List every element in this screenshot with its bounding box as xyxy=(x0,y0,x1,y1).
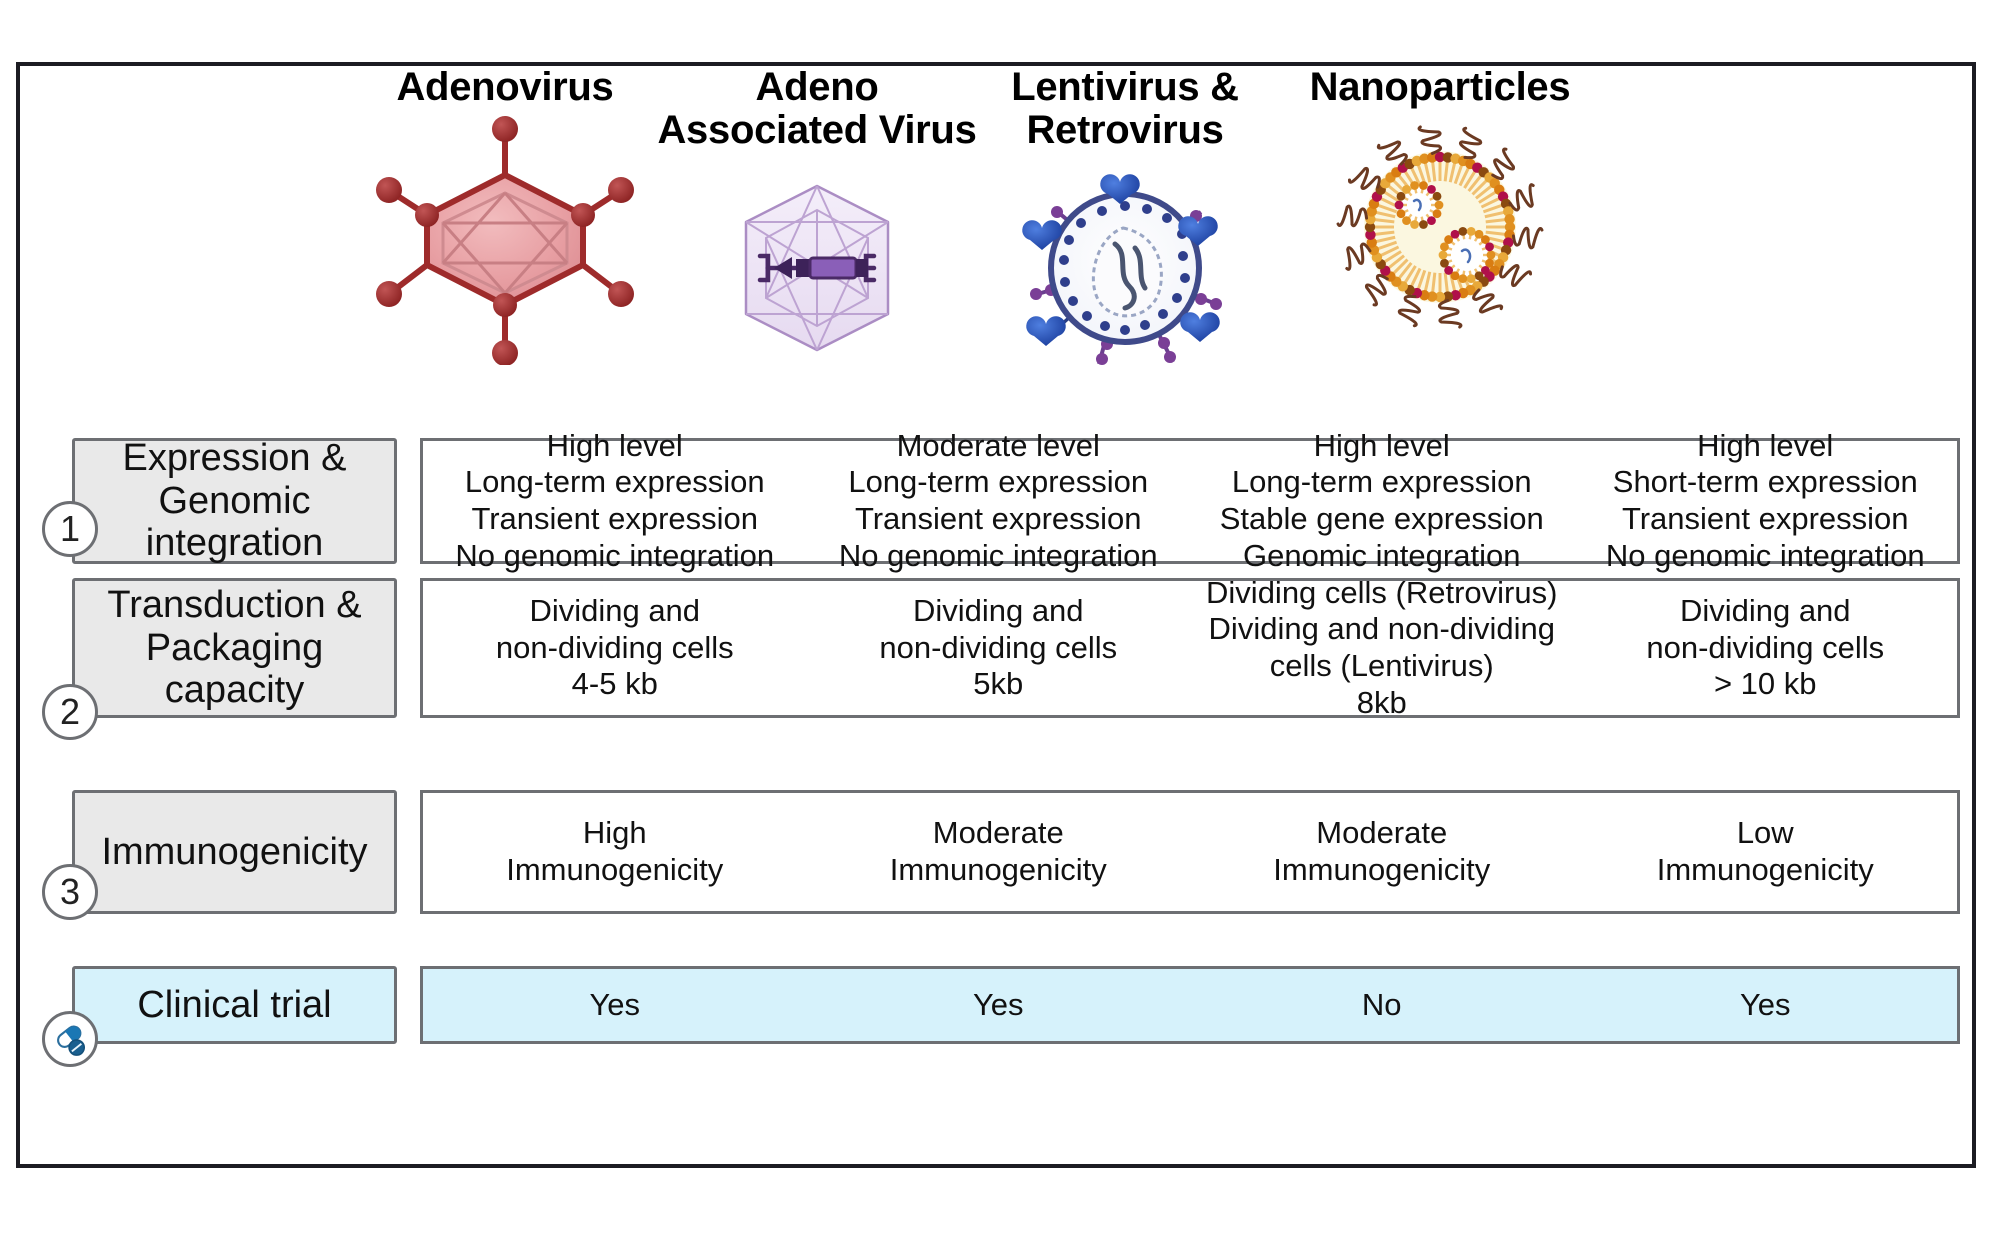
row-data-immunogenicity: High Immunogenicity Moderate Immunogenic… xyxy=(420,790,1960,914)
cell-clinical-adenovirus: Yes xyxy=(423,969,807,1041)
row-label-text-2: Transduction & Packaging capacity xyxy=(75,584,394,712)
row-label-immunogenicity: Immunogenicity xyxy=(72,790,397,914)
cell-clinical-aav: Yes xyxy=(807,969,1191,1041)
nanoparticle-icon xyxy=(1315,115,1565,340)
column-header-aav: Adeno Associated Virus xyxy=(652,66,982,368)
column-headers: Adenovirus xyxy=(20,66,1972,486)
row-label-text-1: Expression & Genomic integration xyxy=(75,437,394,565)
cell-immunogenicity-nanoparticles: Low Immunogenicity xyxy=(1574,793,1958,911)
adeno-associated-virus-icon xyxy=(692,168,942,368)
cell-immunogenicity-aav: Moderate Immunogenicity xyxy=(807,793,1191,911)
row-marker-2: 2 xyxy=(42,684,98,740)
cell-expression-lentivirus: High level Long-term expression Stable g… xyxy=(1190,441,1574,561)
cell-clinical-nanoparticles: Yes xyxy=(1574,969,1958,1041)
cell-transduction-aav: Dividing and non-dividing cells 5kb xyxy=(807,581,1191,715)
cell-transduction-nanoparticles: Dividing and non-dividing cells > 10 kb xyxy=(1574,581,1958,715)
cell-expression-adenovirus: High level Long-term expression Transien… xyxy=(423,441,807,561)
cell-transduction-lentivirus: Dividing cells (Retrovirus) Dividing and… xyxy=(1190,581,1574,715)
column-title-lentivirus: Lentivirus & Retrovirus xyxy=(960,66,1290,152)
column-header-adenovirus: Adenovirus xyxy=(340,66,670,365)
cell-immunogenicity-lentivirus: Moderate Immunogenicity xyxy=(1190,793,1574,911)
adenovirus-icon xyxy=(355,115,655,365)
column-title-aav: Adeno Associated Virus xyxy=(652,66,982,152)
column-header-lentivirus: Lentivirus & Retrovirus xyxy=(960,66,1290,381)
row-label-text-4: Clinical trial xyxy=(131,984,337,1027)
lentivirus-retrovirus-icon xyxy=(995,156,1255,381)
cell-immunogenicity-adenovirus: High Immunogenicity xyxy=(423,793,807,911)
row-data-expression: High level Long-term expression Transien… xyxy=(420,438,1960,564)
column-header-nanoparticles: Nanoparticles xyxy=(1275,66,1605,340)
row-label-transduction: Transduction & Packaging capacity xyxy=(72,578,397,718)
row-label-clinical-trial: Clinical trial xyxy=(72,966,397,1044)
figure-frame: Adenovirus xyxy=(16,62,1976,1168)
cell-transduction-adenovirus: Dividing and non-dividing cells 4-5 kb xyxy=(423,581,807,715)
row-label-expression: Expression & Genomic integration xyxy=(72,438,397,564)
cell-clinical-lentivirus: No xyxy=(1190,969,1574,1041)
row-label-text-3: Immunogenicity xyxy=(95,831,373,874)
pill-icon xyxy=(42,1011,98,1067)
row-data-transduction: Dividing and non-dividing cells 4-5 kb D… xyxy=(420,578,1960,718)
cell-expression-nanoparticles: High level Short-term expression Transie… xyxy=(1574,441,1958,561)
column-title-adenovirus: Adenovirus xyxy=(340,66,670,109)
cell-expression-aav: Moderate level Long-term expression Tran… xyxy=(807,441,1191,561)
row-data-clinical-trial: Yes Yes No Yes xyxy=(420,966,1960,1044)
row-marker-1: 1 xyxy=(42,501,98,557)
row-marker-3: 3 xyxy=(42,864,98,920)
column-title-nanoparticles: Nanoparticles xyxy=(1275,66,1605,109)
